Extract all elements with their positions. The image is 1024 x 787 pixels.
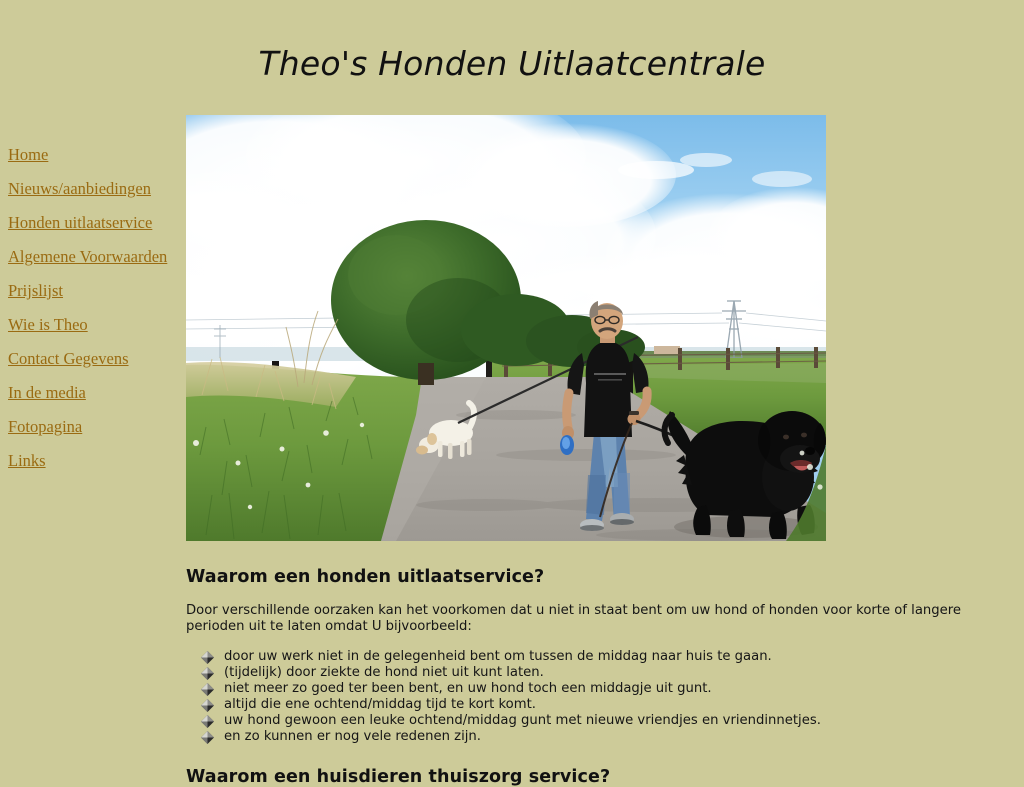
- sidebar-item-links[interactable]: Links: [8, 452, 184, 470]
- sidebar-item-in-de-media[interactable]: In de media: [8, 384, 184, 402]
- sidebar-item-nieuws-aanbiedingen[interactable]: Nieuws/aanbiedingen: [8, 180, 184, 198]
- down-arrow-bullet-icon: [200, 666, 215, 681]
- down-arrow-bullet-icon: [200, 698, 215, 713]
- down-arrow-bullet-icon: [200, 730, 215, 745]
- list-item: uw hond gewoon een leuke ochtend/middag …: [200, 713, 976, 729]
- down-arrow-bullet-icon: [200, 682, 215, 697]
- list-item-label: door uw werk niet in de gelegenheid bent…: [224, 649, 772, 664]
- list-item: door uw werk niet in de gelegenheid bent…: [200, 649, 976, 665]
- page-title: Theo's Honden Uitlaatcentrale: [0, 44, 1024, 83]
- list-item-label: niet meer zo goed ter been bent, en uw h…: [224, 681, 712, 696]
- down-arrow-bullet-icon: [200, 714, 215, 729]
- list-item: altijd die ene ochtend/middag tijd te ko…: [200, 697, 976, 713]
- intro-paragraph: Door verschillende oorzaken kan het voor…: [186, 603, 966, 635]
- list-item-label: (tijdelijk) door ziekte de hond niet uit…: [224, 665, 544, 680]
- sidebar-item-prijslijst[interactable]: Prijslijst: [8, 282, 184, 300]
- sidebar-item-honden-uitlaatservice[interactable]: Honden uitlaatservice: [8, 214, 184, 232]
- reasons-list: door uw werk niet in de gelegenheid bent…: [186, 649, 976, 745]
- list-item: en zo kunnen er nog vele redenen zijn.: [200, 729, 976, 745]
- list-item: (tijdelijk) door ziekte de hond niet uit…: [200, 665, 976, 681]
- list-item-label: altijd die ene ochtend/middag tijd te ko…: [224, 697, 536, 712]
- list-item-label: uw hond gewoon een leuke ochtend/middag …: [224, 713, 821, 728]
- section-heading-uitlaatservice: Waarom een honden uitlaatservice?: [186, 567, 976, 587]
- sidebar-item-algemene-voorwaarden[interactable]: Algemene Voorwaarden: [8, 248, 184, 266]
- list-item: niet meer zo goed ter been bent, en uw h…: [200, 681, 976, 697]
- main-content: Waarom een honden uitlaatservice? Door v…: [186, 115, 976, 787]
- section-heading-thuiszorg: Waarom een huisdieren thuiszorg service?: [186, 767, 976, 787]
- dog-walking-photo: [186, 115, 826, 541]
- down-arrow-bullet-icon: [200, 650, 215, 665]
- sidebar-item-contact-gegevens[interactable]: Contact Gegevens: [8, 350, 184, 368]
- sidebar-navigation: Home Nieuws/aanbiedingen Honden uitlaats…: [8, 146, 184, 486]
- sidebar-item-home[interactable]: Home: [8, 146, 184, 164]
- sidebar-item-wie-is-theo[interactable]: Wie is Theo: [8, 316, 184, 334]
- list-item-label: en zo kunnen er nog vele redenen zijn.: [224, 729, 481, 744]
- sidebar-item-fotopagina[interactable]: Fotopagina: [8, 418, 184, 436]
